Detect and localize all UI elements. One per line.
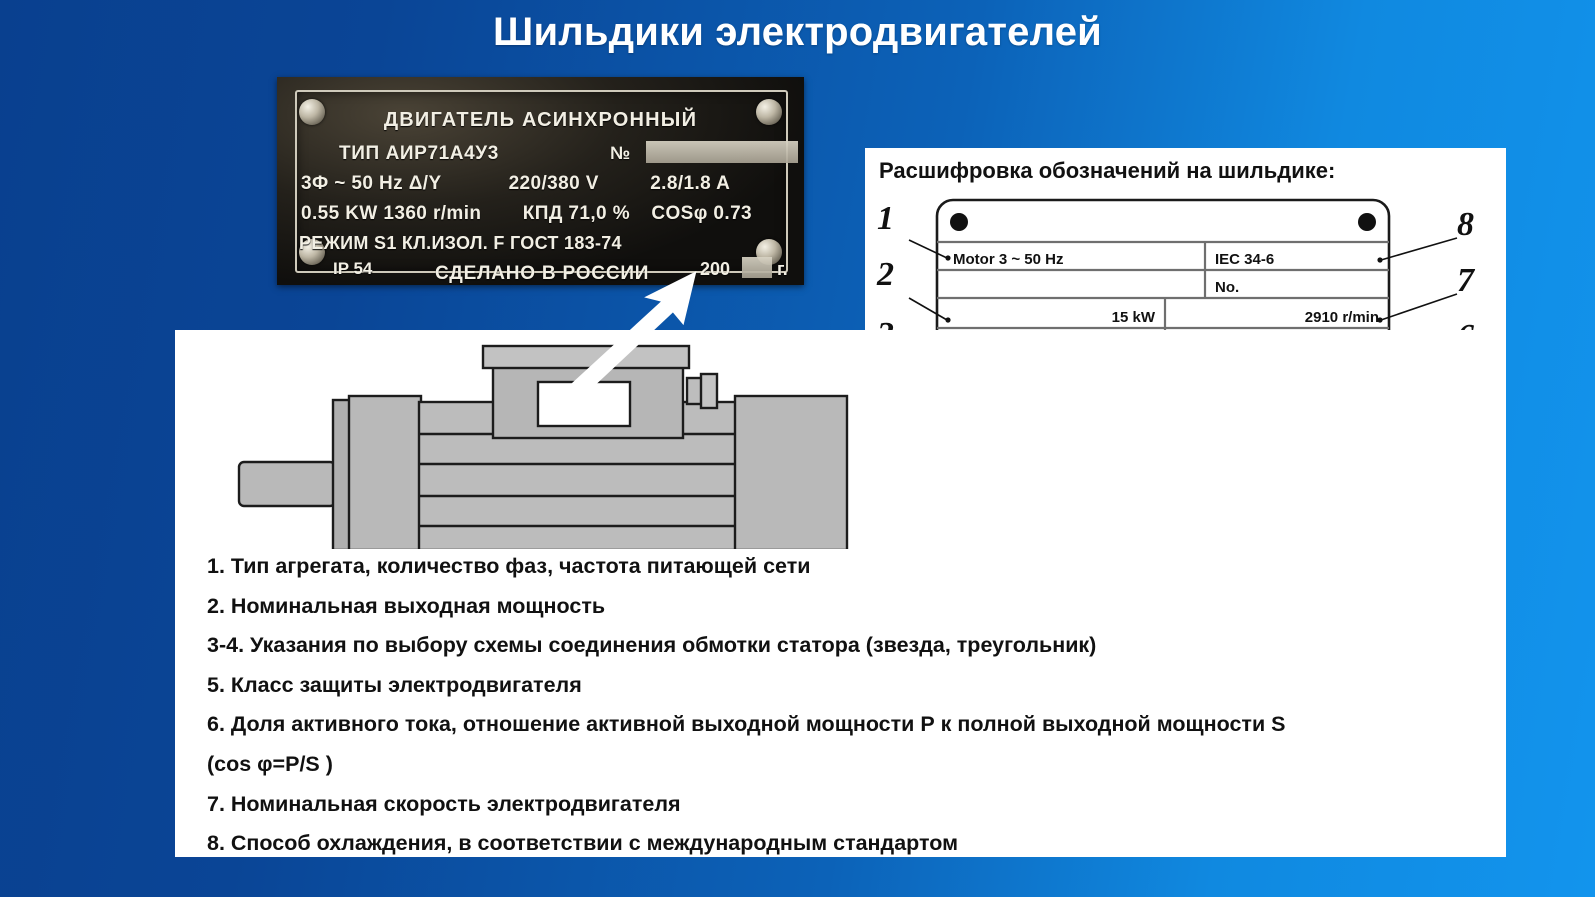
page-title: Шильдики электродвигателей [0, 10, 1595, 55]
nameplate-phase-text: 3Ф ~ 50 Hz Δ/Y [301, 173, 441, 194]
nameplate-power-text: 0.55 KW 1360 r/min [301, 203, 481, 224]
legend-item-7: 7. Номинальная скорость электродвигателя [207, 790, 1487, 819]
iec-row1-right: IEC 34-6 [1215, 251, 1274, 268]
nameplate-cos-text: COSφ 0.73 [651, 203, 752, 224]
motor-rear-end-bell [735, 396, 847, 549]
nameplate-serial-blank-field [646, 141, 798, 163]
iec-rivet-top-right-icon [1358, 213, 1376, 231]
legend-item-6-formula: (cos φ=P/S ) [207, 750, 1487, 779]
motor-illustration [235, 334, 855, 549]
iec-rated-speed: 2910 r/min [1305, 309, 1379, 326]
pointer-arrow-to-nameplate-photo [555, 267, 745, 397]
legend-item-2: 2. Номинальная выходная мощность [207, 592, 1487, 621]
nameplate-efficiency-text: КПД 71,0 % [523, 203, 630, 224]
nameplate-header: ДВИГАТЕЛЬ АСИНХРОННЫЙ [277, 109, 804, 132]
motor-and-legend-panel: 1. Тип агрегата, количество фаз, частота… [175, 330, 1506, 857]
legend-item-3-4: 3-4. Указания по выбору схемы соединения… [207, 631, 1487, 660]
motor-front-end-bell [349, 396, 421, 549]
nameplate-ip-rating: IP 54 [333, 259, 372, 279]
legend-item-1: 1. Тип агрегата, количество фаз, частота… [207, 552, 1487, 581]
callout-number-8: 8 [1457, 206, 1474, 244]
slide-root: Шильдики электродвигателей ДВИГАТЕЛЬ АСИ… [0, 0, 1595, 897]
iec-row1-left: Motor 3 ~ 50 Hz [953, 251, 1063, 268]
motor-nameplate-photo: ДВИГАТЕЛЬ АСИНХРОННЫЙ ТИП АИР71А4У3 № 3Ф… [277, 77, 804, 285]
callout-number-2: 2 [877, 256, 894, 294]
nameplate-row-phase: 3Ф ~ 50 Hz Δ/Y 220/380 V 2.8/1.8 A [301, 173, 730, 195]
nameplate-type: ТИП АИР71А4У3 [339, 143, 499, 165]
iec-row2-right: No. [1215, 279, 1239, 296]
arrow-icon [567, 273, 695, 397]
callout-number-1: 1 [877, 200, 894, 238]
decoding-heading: Расшифровка обозначений на шильдике: [879, 158, 1335, 184]
nameplate-voltage-text: 220/380 V [509, 173, 599, 194]
motor-shaft [239, 462, 335, 506]
iec-rivet-top-left-icon [950, 213, 968, 231]
nameplate-year-blank-field [742, 257, 772, 278]
nameplate-serial-label: № [610, 143, 630, 164]
nameplate-current-text: 2.8/1.8 A [650, 173, 730, 194]
callout-number-7: 7 [1457, 262, 1474, 300]
iec-rated-power: 15 kW [1112, 309, 1156, 326]
nameplate-year-suffix: г. [777, 259, 788, 280]
nameplate-row-mode: РЕЖИМ S1 КЛ.ИЗОЛ. F ГОСТ 183-74 [299, 233, 622, 254]
legend-item-8: 8. Способ охлаждения, в соответствии с м… [207, 829, 1487, 858]
nameplate-row-power: 0.55 KW 1360 r/min КПД 71,0 % COSφ 0.73 [301, 203, 752, 225]
legend-list: 1. Тип агрегата, количество фаз, частота… [207, 552, 1487, 869]
legend-item-6: 6. Доля активного тока, отношение активн… [207, 710, 1487, 739]
legend-item-5: 5. Класс защиты электродвигателя [207, 671, 1487, 700]
